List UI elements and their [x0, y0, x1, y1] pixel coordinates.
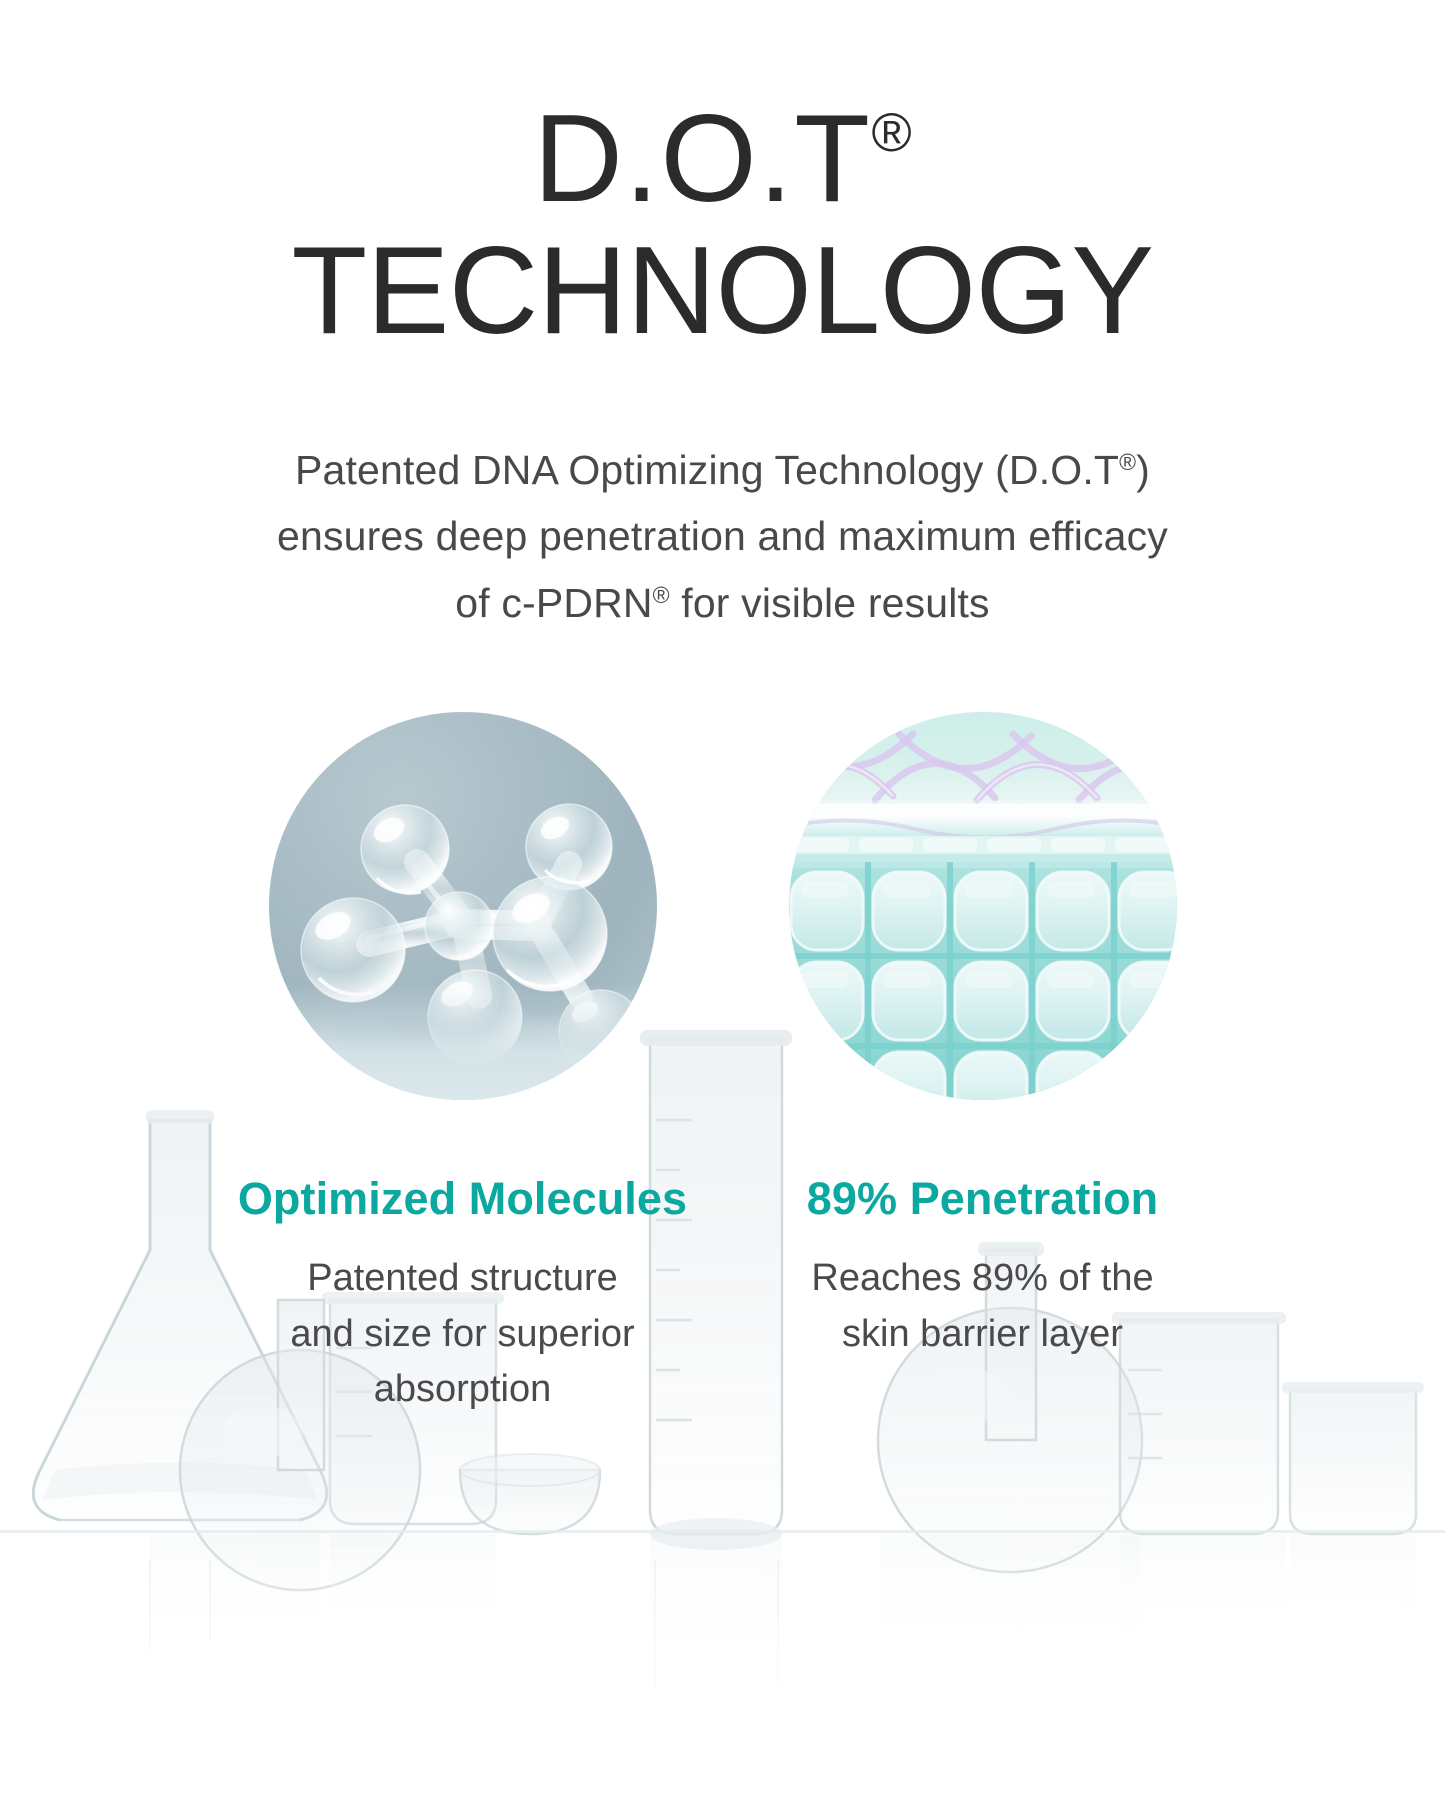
bottom-fade-overlay: [0, 1546, 1445, 1806]
molecule-floor-gradient: [269, 984, 657, 1100]
page-title-line1: D.O.T®: [0, 96, 1445, 222]
registered-mark-icon: ®: [871, 102, 911, 163]
intro-line-1-text: Patented DNA Optimizing Technology (D.O.…: [295, 447, 1119, 493]
feature-desc-penetration: Reaches 89% of the skin barrier layer: [811, 1251, 1153, 1362]
skin-penetration-image: [789, 712, 1177, 1100]
feature-optimized-molecules: Optimized Molecules Patented structure a…: [228, 712, 698, 1418]
feature-penetration: 89% Penetration Reaches 89% of the skin …: [748, 712, 1218, 1362]
intro-line-1: Patented DNA Optimizing Technology (D.O.…: [193, 437, 1253, 503]
optimized-molecules-image: [269, 712, 657, 1100]
registered-mark-icon: ®: [1119, 449, 1136, 475]
page-title-text: D.O.T: [533, 90, 871, 228]
feature-desc-line: Reaches 89% of the: [811, 1251, 1153, 1306]
intro-line-2: ensures deep penetration and maximum eff…: [193, 503, 1253, 569]
feature-desc-line: and size for superior: [290, 1307, 634, 1362]
feature-desc-line: Patented structure: [290, 1251, 634, 1306]
dot-technology-page: D.O.T® TECHNOLOGY Patented DNA Optimizin…: [0, 0, 1445, 1806]
intro-line-3-a: of c-PDRN: [455, 580, 652, 626]
page-title-line2: TECHNOLOGY: [0, 228, 1445, 354]
feature-title-optimized-molecules: Optimized Molecules: [238, 1172, 687, 1225]
feature-title-penetration: 89% Penetration: [807, 1172, 1158, 1225]
intro-line-3: of c-PDRN® for visible results: [193, 570, 1253, 636]
registered-mark-icon: ®: [653, 582, 670, 608]
feature-desc-optimized-molecules: Patented structure and size for superior…: [290, 1251, 634, 1417]
intro-line-3-b: for visible results: [670, 580, 990, 626]
feature-desc-line: absorption: [290, 1362, 634, 1417]
feature-columns: Optimized Molecules Patented structure a…: [0, 712, 1445, 1418]
intro-paragraph: Patented DNA Optimizing Technology (D.O.…: [193, 437, 1253, 636]
feature-desc-line: skin barrier layer: [811, 1307, 1153, 1362]
intro-line-1-end: ): [1136, 447, 1150, 493]
page-header: D.O.T® TECHNOLOGY: [0, 0, 1445, 355]
